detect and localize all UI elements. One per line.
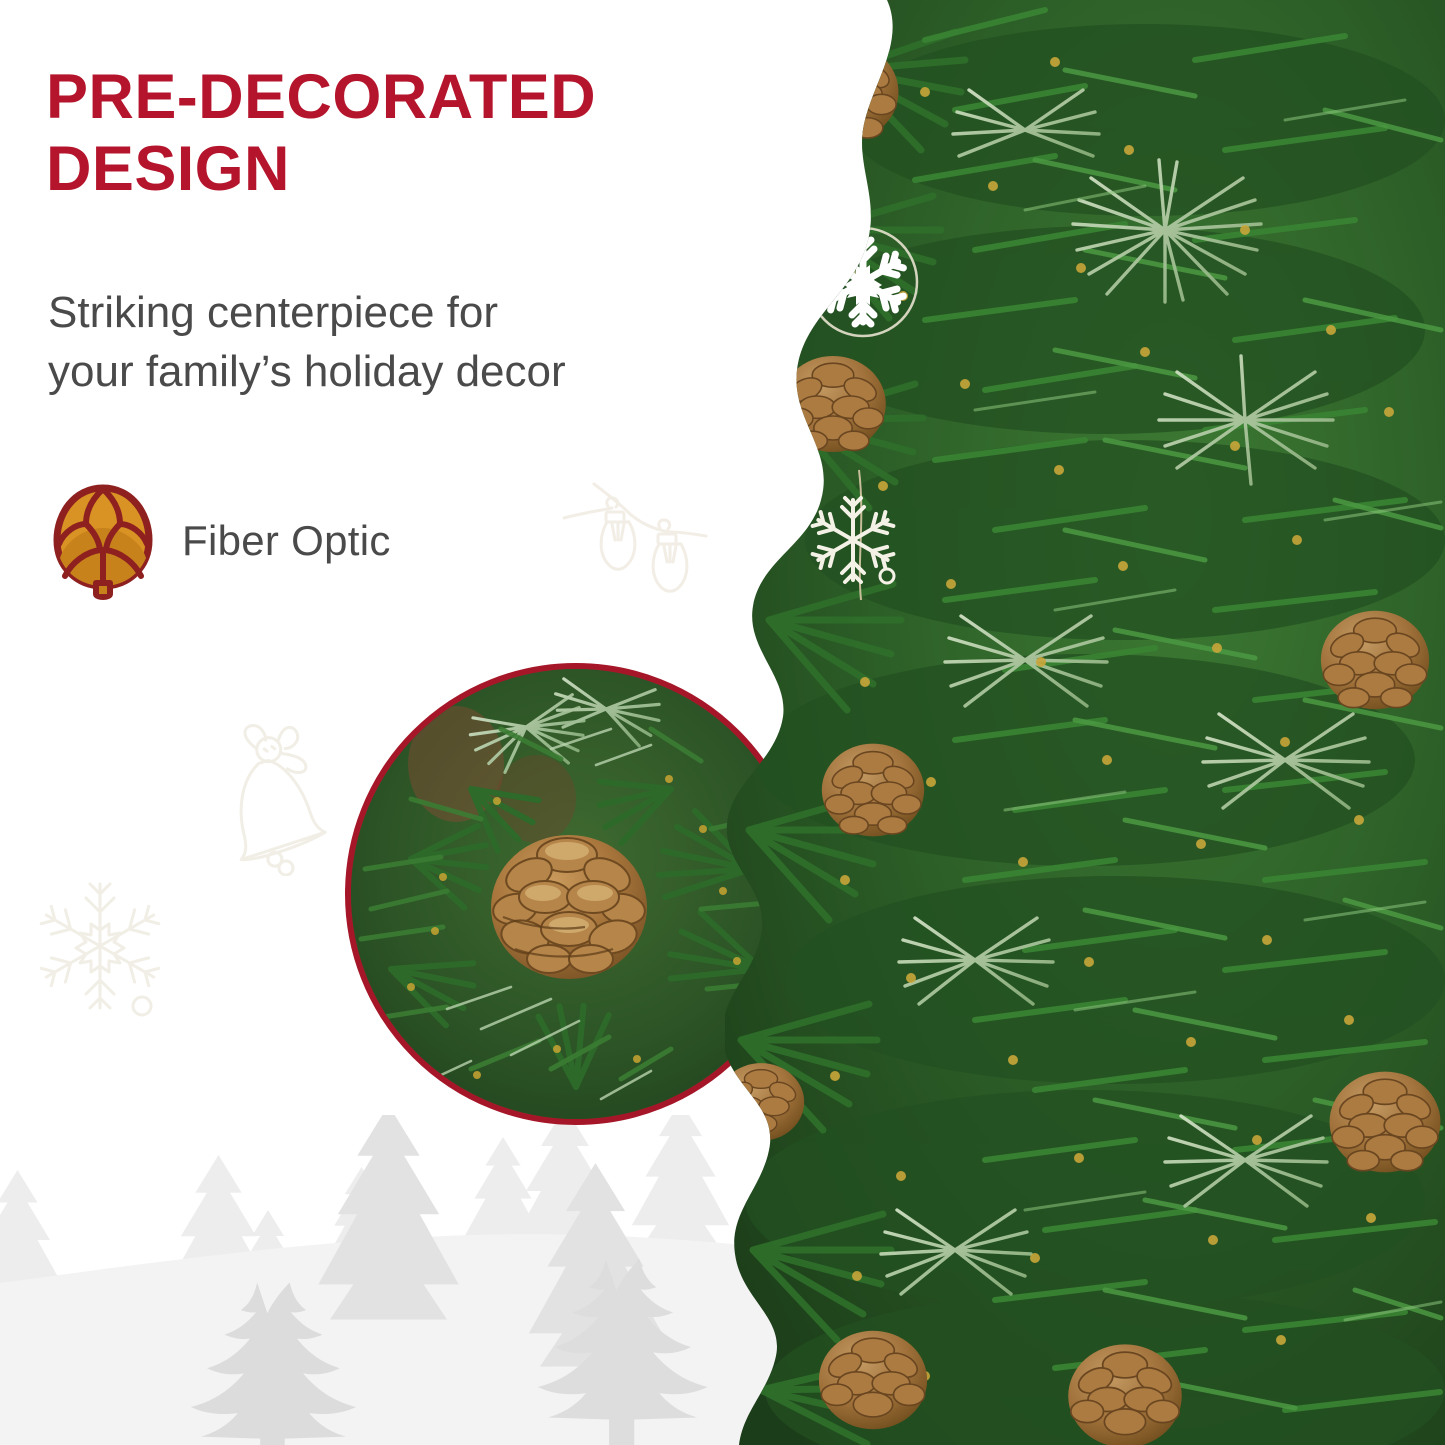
snowflake-icon xyxy=(30,876,190,1036)
snowy-forest-silhouette xyxy=(0,1115,790,1445)
subtitle-text: Striking centerpiece for your family’s h… xyxy=(48,283,748,402)
christmas-tree-photo xyxy=(725,0,1445,1445)
product-feature-card: PRE-DECORATED DESIGN Striking centerpiec… xyxy=(0,0,1445,1445)
bell-icon xyxy=(208,716,368,876)
feature-badge-label: Fiber Optic xyxy=(182,517,391,565)
page-title: PRE-DECORATED DESIGN xyxy=(46,62,766,206)
feature-badge: Fiber Optic xyxy=(50,482,391,600)
pinecone-icon xyxy=(50,482,156,600)
string-lights-icon xyxy=(560,462,740,612)
